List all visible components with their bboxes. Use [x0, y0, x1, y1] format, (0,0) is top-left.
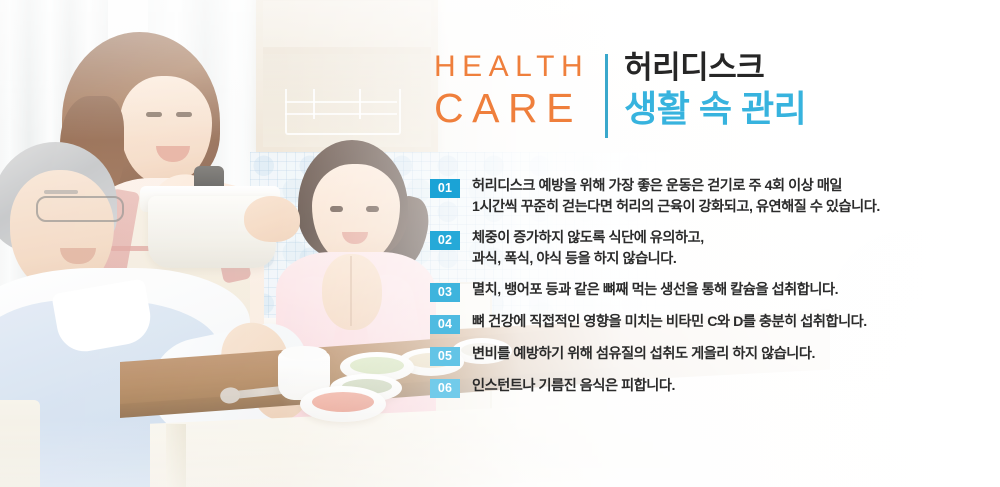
tip-number-badge: 01: [430, 179, 460, 198]
headline-english: HEALTH CARE: [434, 52, 605, 129]
list-item: 04 뼈 건강에 직접적인 영향을 미치는 비타민 C와 D를 충분히 섭취합니…: [430, 312, 990, 334]
headline-word-health: HEALTH: [434, 52, 589, 82]
tip-text: 멸치, 뱅어포 등과 같은 뼈째 먹는 생선을 통해 칼슘을 섭취합니다.: [460, 280, 838, 301]
list-item: 03 멸치, 뱅어포 등과 같은 뼈째 먹는 생선을 통해 칼슘을 섭취합니다.: [430, 280, 990, 302]
tip-text: 뼈 건강에 직접적인 영향을 미치는 비타민 C와 D를 충분히 섭취합니다.: [460, 312, 867, 333]
list-item: 05 변비를 예방하기 위해 섬유질의 섭취도 게을리 하지 않습니다.: [430, 344, 990, 366]
tip-number-badge: 04: [430, 315, 460, 334]
tip-number-badge: 05: [430, 347, 460, 366]
headline-korean: 허리디스크 생활 속 관리: [608, 52, 806, 127]
tip-text: 허리디스크 예방을 위해 가장 좋은 운동은 걷기로 주 4회 이상 매일 1시…: [460, 176, 880, 218]
healthcare-banner: HEALTH CARE 허리디스크 생활 속 관리 01 허리디스크 예방을 위…: [0, 0, 1000, 487]
tip-text: 체중이 증가하지 않도록 식단에 유의하고, 과식, 폭식, 야식 등을 하지 …: [460, 228, 704, 270]
tip-list: 01 허리디스크 예방을 위해 가장 좋은 운동은 걷기로 주 4회 이상 매일…: [430, 176, 990, 408]
headline-block: HEALTH CARE 허리디스크 생활 속 관리: [434, 52, 806, 138]
tip-number-badge: 06: [430, 379, 460, 398]
tip-number-badge: 02: [430, 231, 460, 250]
tip-text: 인스턴트나 기름진 음식은 피합니다.: [460, 376, 675, 397]
headline-korean-line-2: 생활 속 관리: [624, 91, 806, 127]
headline-word-care: CARE: [434, 88, 589, 129]
headline-korean-line-1: 허리디스크: [624, 52, 806, 83]
list-item: 01 허리디스크 예방을 위해 가장 좋은 운동은 걷기로 주 4회 이상 매일…: [430, 176, 990, 218]
list-item: 06 인스턴트나 기름진 음식은 피합니다.: [430, 376, 990, 398]
tip-number-badge: 03: [430, 283, 460, 302]
list-item: 02 체중이 증가하지 않도록 식단에 유의하고, 과식, 폭식, 야식 등을 …: [430, 228, 990, 270]
banner-content: HEALTH CARE 허리디스크 생활 속 관리 01 허리디스크 예방을 위…: [0, 0, 1000, 487]
tip-text: 변비를 예방하기 위해 섬유질의 섭취도 게을리 하지 않습니다.: [460, 344, 815, 365]
